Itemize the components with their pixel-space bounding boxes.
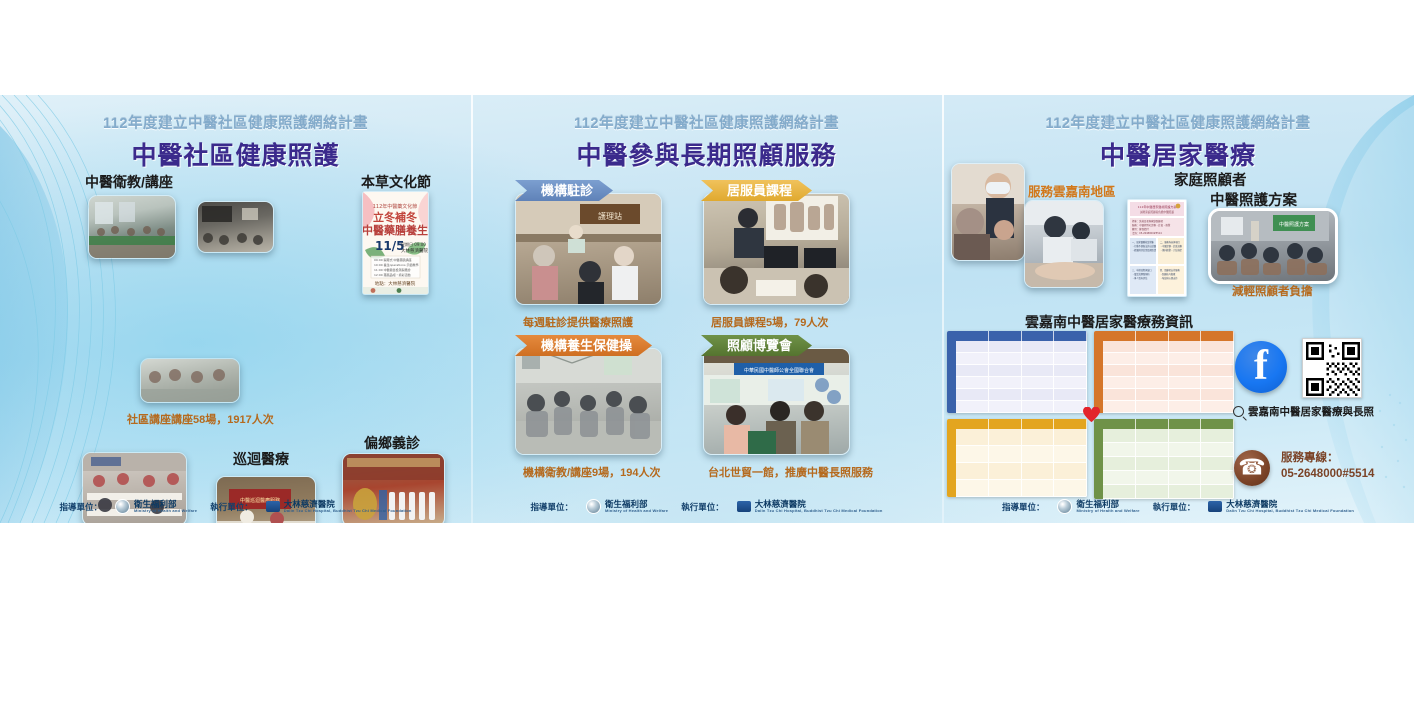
panel1-header: 112年度建立中醫社區健康照護網絡計畫 中醫社區健康照護	[0, 112, 471, 172]
table-row	[956, 389, 1087, 401]
svg-text:中華民國中醫師公會全國聯合會: 中華民國中醫師公會全國聯合會	[744, 367, 814, 374]
table-row	[1103, 471, 1234, 485]
svg-text:地點：大林慈濟醫院: 地點：大林慈濟醫院	[375, 280, 416, 287]
table-row	[1103, 485, 1234, 499]
label-table-heading: 雲嘉南中醫居家醫療務資訊	[1025, 312, 1193, 332]
caption-reduce-burden: 減輕照顧者負擔	[1232, 283, 1313, 299]
exec-org-3: 大林慈濟醫院 Dalin Tzu Chi Hospital, Buddhist …	[1208, 500, 1354, 513]
panel1-kicker: 112年度建立中醫社區健康照護網絡計畫	[0, 112, 471, 133]
guide-org-en-2: Ministry of Health and Welfare	[605, 509, 668, 513]
guide-org-en-3: Ministry of Health and Welfare	[1076, 509, 1139, 513]
panel-divider-1	[471, 95, 473, 523]
table-tainan	[947, 419, 1087, 497]
table-row	[1103, 365, 1234, 377]
table-row	[956, 446, 1087, 463]
photo-lecture-crowd	[197, 201, 274, 253]
poster-canvas: 112年度建立中醫社區健康照護網絡計畫 中醫社區健康照護 中醫衛教/講座 本草文…	[0, 95, 1414, 523]
photo-health-exercise	[515, 348, 662, 455]
exec-label-2: 執行單位：	[681, 501, 724, 513]
svg-text:112年中醫居家醫療照護方案: 112年中醫居家醫療照護方案	[1138, 204, 1177, 209]
photo-herb-festival-poster: 112年中醫藥文化節 立冬補冬 中醫藥膳養生 11/5 星期日 09:00 大林…	[362, 191, 429, 295]
caption-care-expo: 台北世貿一館，推廣中醫長照服務	[708, 464, 873, 480]
svg-text:・中醫診察・針灸治療: ・中醫診察・針灸治療	[1160, 244, 1183, 248]
panel2-title: 中醫參與長期照顧服務	[471, 136, 942, 172]
svg-text:星期日 09:00: 星期日 09:00	[401, 241, 426, 247]
table-row	[956, 401, 1087, 413]
table-yunlin	[947, 331, 1087, 413]
svg-text:11:00 中醫體質檢測與義診: 11:00 中醫體質檢測與義診	[374, 267, 411, 272]
svg-text:10:00 養生operations 示範教學: 10:00 養生operations 示範教學	[374, 262, 419, 267]
photo-caregiver-course	[703, 193, 850, 305]
svg-text:立冬補冬: 立冬補冬	[373, 210, 417, 224]
exec-org-1: 大林慈濟醫院 Dalin Tzu Chi Hospital, Buddhist …	[266, 500, 412, 513]
caption-health-exercise: 機構衛教/講座9場，194人次	[523, 464, 661, 480]
mohw-logo-icon	[1057, 499, 1072, 514]
label-tcm-care-plan: 中醫照護方案	[1210, 189, 1297, 210]
photo-care-plan-sheet: 112年中醫居家醫療照護方案 減輕家庭照顧者負擔中醫照護 對象：失能長者與家庭照…	[1127, 199, 1187, 297]
ribbon-health-exercise: 機構養生保健操	[515, 335, 652, 356]
heart-icon	[1083, 407, 1100, 423]
ribbon-caregiver-course: 居服員課程	[701, 180, 812, 201]
photo-caregiver-classroom: 中醫照護方案	[1208, 208, 1338, 284]
svg-text:四、照顧者支持服務: 四、照顧者支持服務	[1160, 268, 1180, 272]
table-chiayi	[1094, 331, 1234, 413]
svg-text:・照顧技巧衛教: ・照顧技巧衛教	[1160, 272, 1176, 276]
photo-care-expo: 中華民國中醫師公會全國聯合會	[703, 348, 850, 455]
table-tainan-header	[956, 419, 1087, 429]
svg-text:服務：中醫師到宅診療・針灸・推拿: 服務：中醫師到宅診療・針灸・推拿	[1132, 223, 1171, 227]
svg-text:大林慈濟醫院: 大林慈濟醫院	[401, 247, 428, 254]
table-row	[956, 480, 1087, 497]
table-row	[1103, 429, 1234, 443]
photo-community-activity	[140, 358, 240, 403]
panel1-title: 中醫社區健康照護	[0, 136, 471, 172]
table-other	[1094, 419, 1234, 499]
photo-lecture-hall	[88, 195, 176, 259]
table-row	[1103, 353, 1234, 365]
svg-text:三、申請流程與窗口: 三、申請流程與窗口	[1132, 268, 1152, 272]
search-icon	[1233, 406, 1244, 417]
search-query-label: 雲嘉南中醫居家醫療與長照	[1248, 404, 1374, 419]
photo-institution-clinic: 護理站	[515, 193, 662, 305]
ribbon-institution-clinic: 機構駐診	[515, 180, 613, 201]
svg-text:中醫藥膳養生: 中醫藥膳養生	[363, 223, 428, 237]
exec-org-en-1: Dalin Tzu Chi Hospital, Buddhist Tzu Chi…	[284, 509, 412, 513]
mohw-logo-icon	[586, 499, 601, 514]
panel1-credits: 指導單位： 衛生福利部 Ministry of Health and Welfa…	[0, 499, 471, 514]
svg-text:09:00 開幕式 中醫藥膳講座: 09:00 開幕式 中醫藥膳講座	[374, 257, 412, 262]
svg-text:・經醫師評估需長期照護: ・經醫師評估需長期照護	[1132, 248, 1157, 252]
table-other-header	[1103, 419, 1234, 429]
exec-label-3: 執行單位：	[1153, 501, 1196, 513]
svg-text:・電話或網路預約: ・電話或網路預約	[1132, 272, 1150, 276]
svg-text:・傷科推拿・穴位按摩: ・傷科推拿・穴位按摩	[1160, 248, 1183, 252]
exec-org-2: 大林慈濟醫院 Dalin Tzu Chi Hospital, Buddhist …	[737, 500, 883, 513]
caption-lecture-stat-1: 社區講座講座58場，1917人次	[127, 411, 274, 427]
svg-text:一、居家醫療收案對象: 一、居家醫療收案對象	[1132, 240, 1155, 244]
svg-text:112年中醫藥文化節: 112年中醫藥文化節	[373, 203, 418, 210]
table-row	[1103, 389, 1234, 401]
qr-code-image[interactable]	[1302, 338, 1362, 398]
svg-text:12:00 藥膳品嚐・摸彩活動: 12:00 藥膳品嚐・摸彩活動	[374, 272, 411, 277]
table-other-side	[1094, 419, 1103, 499]
table-row	[1103, 457, 1234, 471]
table-row	[956, 463, 1087, 480]
svg-text:・喘息與心理支持: ・喘息與心理支持	[1160, 276, 1178, 280]
hotline-label: 服務專線：	[1281, 451, 1374, 467]
panel2-credits: 指導單位： 衛生福利部 Ministry of Health and Welfa…	[471, 499, 942, 514]
guide-label-3: 指導單位：	[1002, 501, 1045, 513]
label-service-area: 服務雲嘉南地區	[1028, 181, 1116, 200]
guide-label-1: 指導單位：	[59, 501, 102, 513]
label-mobile-clinic: 巡迴醫療	[233, 449, 289, 469]
label-health-education: 中醫衛教/講座	[85, 172, 173, 192]
svg-text:・行動不便無法外出就醫: ・行動不便無法外出就醫	[1132, 244, 1157, 248]
exec-org-en-2: Dalin Tzu Chi Hospital, Buddhist Tzu Chi…	[755, 509, 883, 513]
table-chiayi-side	[1094, 331, 1103, 413]
tzuchi-logo-icon	[266, 501, 280, 512]
table-row	[956, 429, 1087, 446]
table-row	[1103, 401, 1234, 413]
label-rural-clinic: 偏鄉義診	[364, 433, 420, 453]
exec-label-1: 執行單位：	[210, 501, 253, 513]
table-row	[956, 377, 1087, 389]
panel3-credits: 指導單位： 衛生福利部 Ministry of Health and Welfa…	[942, 499, 1414, 514]
svg-text:費用：健保給付: 費用：健保給付	[1132, 227, 1149, 231]
table-chiayi-header	[1103, 331, 1234, 341]
label-family-caregiver: 家庭照顧者	[1174, 169, 1247, 190]
table-row	[1103, 377, 1234, 389]
panel-longterm-care: 112年度建立中醫社區健康照護網絡計畫 中醫參與長期照顧服務 機構駐診 護理站 …	[471, 95, 942, 523]
panel2-header: 112年度建立中醫社區健康照護網絡計畫 中醫參與長期照顧服務	[471, 112, 942, 172]
guide-org-3: 衛生福利部 Ministry of Health and Welfare	[1057, 499, 1139, 514]
panel2-kicker: 112年度建立中醫社區健康照護網絡計畫	[471, 112, 942, 133]
panel-community-care: 112年度建立中醫社區健康照護網絡計畫 中醫社區健康照護 中醫衛教/講座 本草文…	[0, 95, 471, 523]
caption-institution-clinic: 每週駐診提供醫療照護	[523, 314, 633, 330]
phone-icon	[1234, 450, 1270, 486]
hotline-number: 05-2648000#5514	[1281, 467, 1374, 483]
table-row	[1103, 443, 1234, 457]
mohw-logo-icon	[115, 499, 130, 514]
guide-org-1: 衛生福利部 Ministry of Health and Welfare	[115, 499, 197, 514]
svg-text:護理站: 護理站	[598, 211, 622, 221]
table-row	[956, 365, 1087, 377]
tzuchi-logo-icon	[737, 501, 751, 512]
table-tainan-side	[947, 419, 956, 497]
tzuchi-logo-icon	[1208, 501, 1222, 512]
label-herb-festival: 本草文化節	[361, 172, 431, 192]
table-row	[956, 341, 1087, 353]
svg-text:洽詢：05-2648000#5514: 洽詢：05-2648000#5514	[1132, 231, 1162, 235]
facebook-search-text[interactable]: 雲嘉南中醫居家醫療與長照	[1233, 404, 1374, 419]
caption-caregiver-course: 居服員課程5場，79人次	[711, 314, 828, 330]
panel3-kicker: 112年度建立中醫社區健康照護網絡計畫	[942, 112, 1414, 133]
photo-home-visit-2	[1024, 200, 1104, 288]
ribbon-care-expo: 照顧博覽會	[701, 335, 812, 356]
svg-text:中醫照護方案: 中醫照護方案	[1279, 221, 1309, 228]
photo-home-visit-1	[951, 163, 1025, 261]
facebook-icon[interactable]	[1235, 341, 1287, 393]
panel-home-medicine: 112年度建立中醫社區健康照護網絡計畫 中醫居家醫療 服務雲嘉南地區 家庭照顧者…	[942, 95, 1414, 523]
guide-org-2: 衛生福利部 Ministry of Health and Welfare	[586, 499, 668, 514]
guide-label-2: 指導單位：	[530, 501, 573, 513]
svg-text:減輕家庭照顧者負擔中醫照護: 減輕家庭照顧者負擔中醫照護	[1140, 210, 1174, 214]
svg-text:對象：失能長者與家庭照顧者: 對象：失能長者與家庭照顧者	[1132, 219, 1164, 223]
svg-text:・專人到府評估: ・專人到府評估	[1132, 276, 1148, 280]
hotline-block: 服務專線： 05-2648000#5514	[1281, 451, 1374, 482]
svg-text:二、服務內容與項目: 二、服務內容與項目	[1160, 240, 1180, 244]
panel-divider-2	[942, 95, 944, 523]
table-yunlin-side	[947, 331, 956, 413]
table-row	[956, 353, 1087, 365]
guide-org-en-1: Ministry of Health and Welfare	[134, 509, 197, 513]
table-yunlin-header	[956, 331, 1087, 341]
exec-org-en-3: Dalin Tzu Chi Hospital, Buddhist Tzu Chi…	[1226, 509, 1354, 513]
table-row	[1103, 341, 1234, 353]
